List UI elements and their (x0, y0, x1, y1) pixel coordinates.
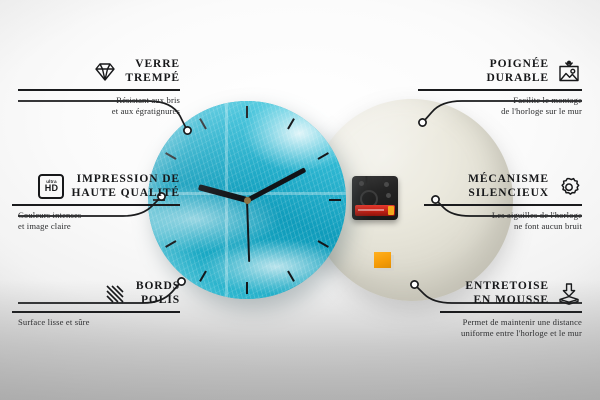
movement-screw (386, 193, 391, 198)
quartz-movement (352, 176, 398, 220)
diagonal-lines-icon (103, 282, 129, 306)
battery-stripe (358, 209, 384, 211)
product-infographic: VERRE TREMPÉ Résistant aux bris et aux é… (0, 0, 600, 400)
foam-arrow-icon (556, 282, 582, 306)
callout-header: ultra HD IMPRESSION DE HAUTE QUALITÉ (12, 173, 180, 200)
callout-rule (12, 311, 180, 313)
movement-screw (359, 181, 364, 186)
callout-title: MÉCANISME SILENCIEUX (468, 173, 549, 200)
callout-print-quality: ultra HD IMPRESSION DE HAUTE QUALITÉ Cou… (12, 173, 180, 231)
callout-tempered-glass: VERRE TREMPÉ Résistant aux bris et aux é… (18, 58, 180, 116)
gear-icon (556, 175, 582, 199)
callout-rule (440, 311, 582, 313)
callout-rule (18, 89, 180, 91)
callout-title: POIGNÉE DURABLE (486, 58, 549, 85)
callout-desc: Facilite le montage de l'horloge sur le … (418, 95, 582, 116)
callout-header: POIGNÉE DURABLE (418, 58, 582, 85)
picture-frame-icon (556, 60, 582, 84)
callout-title: ENTRETOISE EN MOUSSE (465, 280, 549, 307)
callout-durable-handle: POIGNÉE DURABLE Facilite le montage de l… (418, 58, 582, 116)
movement-screw (384, 182, 389, 187)
callout-rule (418, 89, 582, 91)
callout-header: VERRE TREMPÉ (18, 58, 180, 85)
callout-desc: Couleurs intenses et image claire (12, 210, 180, 231)
callout-silent-mechanism: MÉCANISME SILENCIEUX Les aiguilles de l'… (424, 173, 582, 231)
callout-header: MÉCANISME SILENCIEUX (424, 173, 582, 200)
callout-rule (424, 204, 582, 206)
callout-rule (12, 204, 180, 206)
callout-header: ENTRETOISE EN MOUSSE (440, 280, 582, 307)
ultra-hd-icon: ultra HD (38, 174, 64, 199)
callout-desc: Résistant aux bris et aux égratignures (18, 95, 180, 116)
callout-polished-edges: BORDS POLIS Surface lisse et sûre (12, 280, 180, 328)
battery-terminal (388, 206, 394, 215)
callout-desc: Surface lisse et sûre (12, 317, 180, 328)
callout-header: BORDS POLIS (12, 280, 180, 307)
foam-spacer-pad (374, 252, 391, 268)
callout-desc: Les aiguilles de l'horloge ne font aucun… (424, 210, 582, 231)
callout-title: VERRE TREMPÉ (125, 58, 180, 85)
aa-battery (355, 205, 395, 216)
diamond-icon (92, 60, 118, 84)
callout-foam-spacer: ENTRETOISE EN MOUSSE Permet de maintenir… (440, 280, 582, 338)
callout-title: IMPRESSION DE HAUTE QUALITÉ (71, 173, 180, 200)
callout-title: BORDS POLIS (136, 280, 180, 307)
callout-desc: Permet de maintenir une distance uniform… (380, 317, 582, 338)
hanger-loop-icon (366, 176, 385, 183)
